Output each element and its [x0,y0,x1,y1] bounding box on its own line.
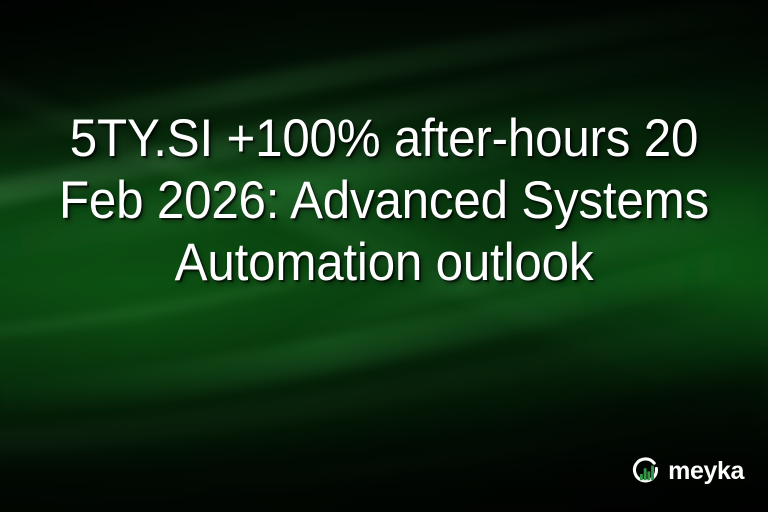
brand-logo: meyka [630,456,744,488]
headline-container: 5TY.SI +100% after-hours 20 Feb 2026: Ad… [0,108,768,294]
social-share-card: 5TY.SI +100% after-hours 20 Feb 2026: Ad… [0,0,768,512]
brand-wordmark: meyka [668,459,744,485]
meyka-circle-bar-chart-icon [630,456,662,488]
headline-text: 5TY.SI +100% after-hours 20 Feb 2026: Ad… [53,108,715,294]
